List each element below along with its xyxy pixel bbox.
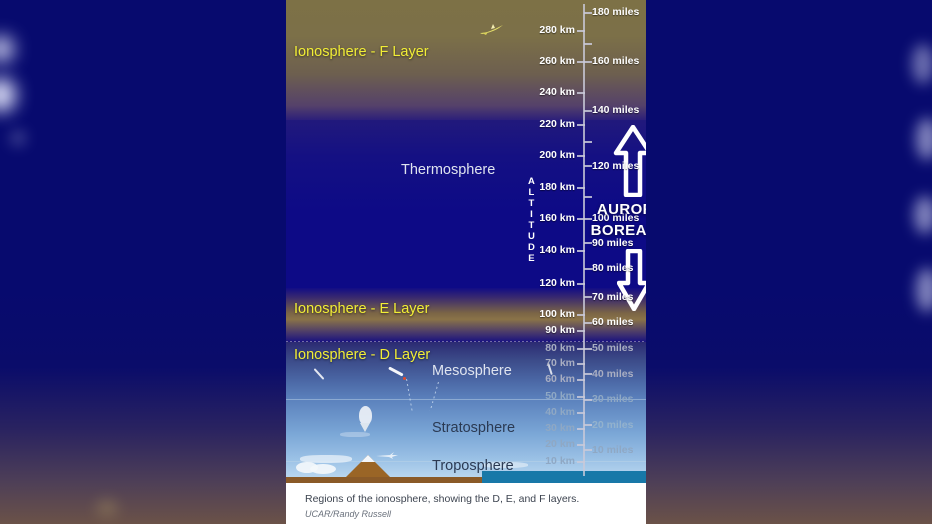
km-tick-label: 260 km bbox=[539, 55, 575, 67]
figure-caption-credit: UCAR/Randy Russell bbox=[305, 509, 391, 519]
km-tick-label: 70 km bbox=[545, 357, 575, 369]
miles-tick-label: 180 miles bbox=[592, 6, 639, 18]
km-tick-label: 140 km bbox=[539, 244, 575, 256]
km-tick-label: 200 km bbox=[539, 149, 575, 161]
bokeh-light bbox=[96, 500, 118, 516]
axis-tick bbox=[577, 428, 585, 430]
km-tick-label: 40 km bbox=[545, 406, 575, 418]
figure-caption-text: Regions of the ionosphere, showing the D… bbox=[305, 493, 579, 505]
label-ionosphere-e-layer: Ionosphere - E Layer bbox=[294, 301, 429, 317]
altitude-letter: I bbox=[530, 209, 533, 220]
label-ionosphere-f-layer: Ionosphere - F Layer bbox=[294, 44, 429, 60]
miles-tick-label: 20 miles bbox=[592, 419, 633, 431]
axis-tick bbox=[577, 155, 585, 157]
label-troposphere: Troposphere bbox=[432, 458, 514, 474]
aurora-line-1: AURORA bbox=[597, 201, 646, 218]
axis-tick bbox=[584, 296, 592, 298]
km-tick-label: 220 km bbox=[539, 118, 575, 130]
km-tick-label: 60 km bbox=[545, 373, 575, 385]
axis-tick bbox=[584, 399, 592, 401]
miles-tick-label: 30 miles bbox=[592, 393, 633, 405]
miles-tick-label: 50 miles bbox=[592, 342, 633, 354]
axis-tick bbox=[577, 412, 585, 414]
miles-tick-label: 120 miles bbox=[592, 160, 639, 172]
axis-tick bbox=[584, 373, 592, 375]
axis-tick bbox=[584, 141, 592, 143]
ionosphere-diagram-panel: 280 km 260 km 240 km 220 km 200 km 180 k… bbox=[286, 0, 646, 524]
label-stratosphere: Stratosphere bbox=[432, 420, 515, 436]
miles-tick-label: 80 miles bbox=[592, 262, 633, 274]
miles-tick-label: 70 miles bbox=[592, 291, 633, 303]
axis-tick bbox=[577, 283, 585, 285]
miles-tick-label: 160 miles bbox=[592, 55, 639, 67]
label-aurora-borealis: AURORA BOREALIS bbox=[588, 199, 646, 242]
altitude-letter: A bbox=[528, 176, 535, 187]
axis-tick bbox=[584, 196, 592, 198]
bokeh-light bbox=[0, 78, 16, 112]
altitude-letter: L bbox=[529, 187, 535, 198]
altitude-letter: T bbox=[529, 198, 535, 209]
axis-tick bbox=[577, 30, 585, 32]
km-tick-label: 10 km bbox=[545, 455, 575, 467]
miles-tick-label: 60 miles bbox=[592, 316, 633, 328]
bokeh-light bbox=[0, 36, 14, 62]
km-tick-label: 180 km bbox=[539, 181, 575, 193]
axis-tick bbox=[584, 43, 592, 45]
axis-tick bbox=[577, 379, 585, 381]
km-tick-label: 50 km bbox=[545, 390, 575, 402]
altitude-letter: T bbox=[529, 220, 535, 231]
axis-tick bbox=[584, 449, 592, 451]
axis-tick bbox=[584, 242, 592, 244]
altitude-letter: E bbox=[528, 253, 535, 264]
axis-tick bbox=[577, 314, 585, 316]
altitude-axis-line bbox=[583, 4, 585, 476]
axis-tick bbox=[577, 363, 585, 365]
label-ionosphere-d-layer: Ionosphere - D Layer bbox=[294, 347, 430, 363]
axis-tick bbox=[584, 61, 592, 63]
axis-tick bbox=[584, 322, 592, 324]
miles-tick-label: 140 miles bbox=[592, 104, 639, 116]
altitude-letter: U bbox=[528, 231, 535, 242]
bokeh-light bbox=[914, 196, 932, 234]
bokeh-light bbox=[912, 44, 932, 84]
axis-tick bbox=[584, 424, 592, 426]
bokeh-light bbox=[916, 268, 932, 312]
km-tick-label: 90 km bbox=[545, 324, 575, 336]
figure-caption-bar: Regions of the ionosphere, showing the D… bbox=[286, 483, 646, 524]
miles-tick-label: 40 miles bbox=[592, 368, 633, 380]
axis-tick bbox=[577, 124, 585, 126]
axis-tick bbox=[577, 461, 585, 463]
axis-tick bbox=[577, 444, 585, 446]
km-tick-label: 120 km bbox=[539, 277, 575, 289]
axis-tick bbox=[584, 268, 592, 270]
bokeh-light bbox=[916, 118, 932, 160]
axis-tick bbox=[577, 396, 585, 398]
km-tick-label: 160 km bbox=[539, 212, 575, 224]
aurora-line-2: BOREALIS bbox=[591, 222, 646, 239]
miles-tick-label: 10 miles bbox=[592, 444, 633, 456]
km-tick-label: 30 km bbox=[545, 422, 575, 434]
km-tick-label: 280 km bbox=[539, 24, 575, 36]
axis-tick bbox=[577, 250, 585, 252]
altitude-axis-title: A L T I T U D E bbox=[528, 176, 535, 264]
axis-tick bbox=[584, 110, 592, 112]
axis-tick bbox=[584, 165, 592, 167]
bokeh-light bbox=[10, 130, 26, 146]
km-tick-label: 20 km bbox=[545, 438, 575, 450]
axis-tick bbox=[577, 330, 585, 332]
axis-tick bbox=[577, 187, 585, 189]
label-thermosphere: Thermosphere bbox=[401, 162, 495, 178]
km-tick-label: 100 km bbox=[539, 308, 575, 320]
axis-tick bbox=[584, 12, 592, 14]
altitude-letter: D bbox=[528, 242, 535, 253]
km-tick-label: 80 km bbox=[545, 342, 575, 354]
axis-tick bbox=[577, 92, 585, 94]
axis-tick bbox=[584, 348, 592, 350]
km-tick-label: 240 km bbox=[539, 86, 575, 98]
label-mesosphere: Mesosphere bbox=[432, 363, 512, 379]
